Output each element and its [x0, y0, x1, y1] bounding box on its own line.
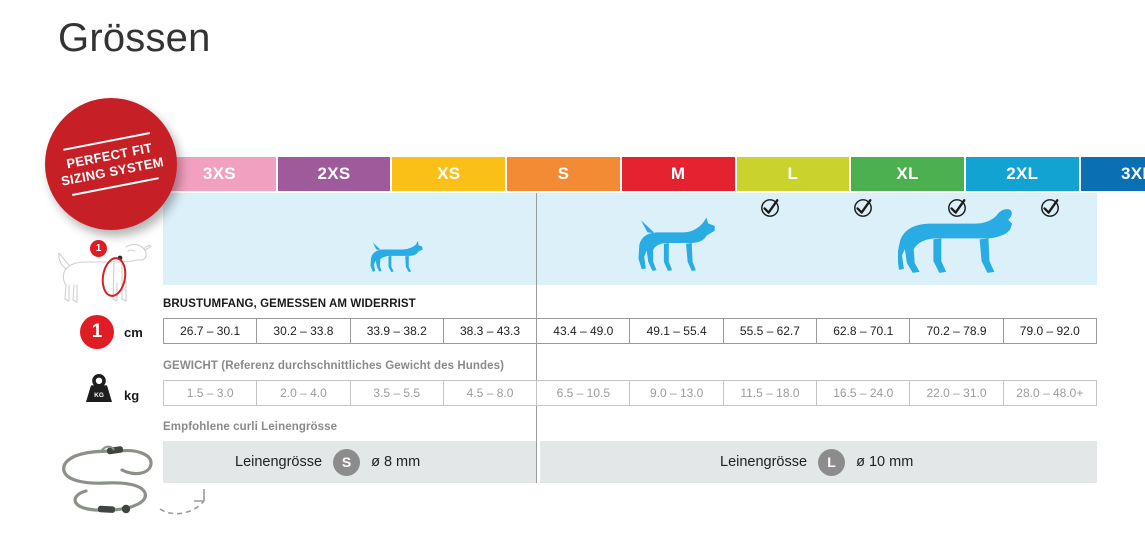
- weight-value-l: 9.0 – 13.0: [629, 380, 722, 406]
- chest-value-2xl: 62.8 – 70.1: [816, 318, 909, 344]
- chest-value-m: 43.4 – 49.0: [536, 318, 629, 344]
- dog-outline-diagram: [56, 233, 160, 311]
- leash-diameter: ø 8 mm: [371, 454, 420, 470]
- chest-value-4xl: 79.0 – 92.0: [1003, 318, 1097, 344]
- leash-segment-s: LeinengrösseSø 8 mm: [163, 441, 536, 483]
- chest-unit-label: cm: [124, 325, 143, 340]
- leash-text: Leinengrösse: [720, 454, 807, 470]
- chest-marker-circle: 1: [80, 315, 114, 349]
- chest-value-3xs: 26.7 – 30.1: [163, 318, 256, 344]
- leash-pointer-arrow: [158, 487, 220, 517]
- weight-values-row: 1.5 – 3.02.0 – 4.03.5 – 5.54.5 – 8.06.5 …: [163, 380, 1097, 406]
- size-chart-page: Grössen PERFECT FIT SIZING SYSTEM 3XS2XS…: [0, 0, 1145, 540]
- chest-section-label: BRUSTUMFANG, GEMESSEN AM WIDERRIST: [163, 298, 1097, 310]
- weight-value-m: 6.5 – 10.5: [536, 380, 629, 406]
- weight-unit-label: kg: [124, 388, 139, 403]
- dog-silhouette-small: [303, 183, 490, 285]
- leash-row: LeinengrösseSø 8 mmLeinengrösseLø 10 mm: [163, 441, 1097, 483]
- measure-point-badge-1: 1: [90, 240, 107, 257]
- size-header-cell-3xl[interactable]: 3XL: [1081, 157, 1145, 191]
- weight-value-2xs: 2.0 – 4.0: [256, 380, 349, 406]
- weight-section-label: GEWICHT (Referenz durchschnittliches Gew…: [163, 360, 1097, 372]
- weight-value-3xs: 1.5 – 3.0: [163, 380, 256, 406]
- perfect-fit-badge: PERFECT FIT SIZING SYSTEM: [45, 98, 177, 230]
- chest-value-2xs: 30.2 – 33.8: [256, 318, 349, 344]
- weight-value-3xl: 22.0 – 31.0: [909, 380, 1002, 406]
- chest-value-s: 38.3 – 43.3: [443, 318, 536, 344]
- dog-silhouette-large: [864, 183, 1051, 285]
- weight-value-xl: 11.5 – 18.0: [723, 380, 816, 406]
- weight-value-xs: 3.5 – 5.5: [350, 380, 443, 406]
- leash-segment-l: LeinengrösseLø 10 mm: [540, 441, 1097, 483]
- weight-value-2xl: 16.5 – 24.0: [816, 380, 909, 406]
- kg-weight-icon: KG: [82, 372, 116, 404]
- leash-text: Leinengrösse: [235, 454, 322, 470]
- dog-silhouette-medium: [583, 183, 770, 285]
- leash-diameter: ø 10 mm: [856, 454, 913, 470]
- leash-section-label: Empfohlene curli Leinengrösse: [163, 421, 1097, 433]
- badge-inner: PERFECT FIT SIZING SYSTEM: [34, 87, 189, 242]
- chest-value-xs: 33.9 – 38.2: [350, 318, 443, 344]
- weight-value-s: 4.5 – 8.0: [443, 380, 536, 406]
- dog-illustration-band: [163, 193, 1097, 285]
- leash-size-badge-s: S: [333, 449, 360, 476]
- leash-illustration: [50, 437, 170, 532]
- chest-values-row: 26.7 – 30.130.2 – 33.833.9 – 38.238.3 – …: [163, 318, 1097, 344]
- chest-value-3xl: 70.2 – 78.9: [909, 318, 1002, 344]
- leash-size-badge-l: L: [818, 449, 845, 476]
- svg-text:KG: KG: [94, 392, 104, 399]
- weight-value-4xl: 28.0 – 48.0+: [1003, 380, 1097, 406]
- chest-value-xl: 55.5 – 62.7: [723, 318, 816, 344]
- chest-value-l: 49.1 – 55.4: [629, 318, 722, 344]
- page-title: Grössen: [58, 18, 211, 58]
